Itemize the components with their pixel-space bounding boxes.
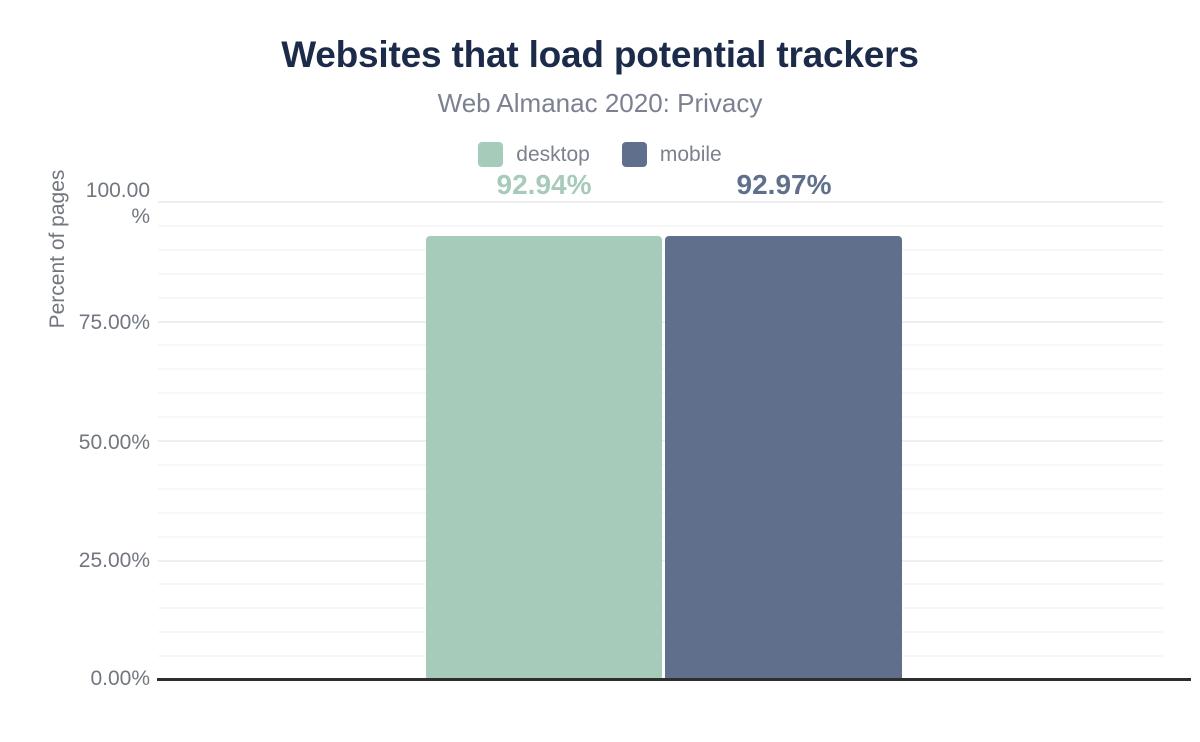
- chart-title: Websites that load potential trackers: [0, 32, 1200, 78]
- y-axis-title: Percent of pages: [46, 99, 70, 399]
- legend-label-mobile: mobile: [660, 142, 722, 167]
- legend-label-desktop: desktop: [516, 142, 590, 167]
- chart-legend: desktop mobile: [0, 142, 1200, 167]
- y-tick-label-100: 100.00 %: [20, 178, 150, 230]
- plot-area: [158, 202, 1163, 680]
- legend-swatch-mobile-icon: [622, 142, 647, 167]
- bar-value-label-desktop: 92.94%: [424, 168, 664, 202]
- legend-swatch-desktop-icon: [478, 142, 503, 167]
- y-tick-label-75: 75.00%: [20, 310, 150, 336]
- bar-value-label-mobile: 92.97%: [664, 168, 904, 202]
- y-tick-label-25: 25.00%: [20, 548, 150, 574]
- legend-item-mobile[interactable]: mobile: [622, 142, 722, 167]
- x-axis-baseline: [157, 678, 1191, 681]
- y-tick-label-50: 50.00%: [20, 430, 150, 456]
- legend-item-desktop[interactable]: desktop: [478, 142, 590, 167]
- bar-mobile[interactable]: [665, 236, 902, 680]
- bar-chart: Websites that load potential trackers We…: [0, 0, 1200, 742]
- bar-desktop[interactable]: [426, 236, 662, 680]
- y-tick-label-0: 0.00%: [20, 666, 150, 692]
- chart-subtitle: Web Almanac 2020: Privacy: [0, 87, 1200, 119]
- gridline: [158, 225, 1163, 227]
- gridline: [158, 201, 1163, 203]
